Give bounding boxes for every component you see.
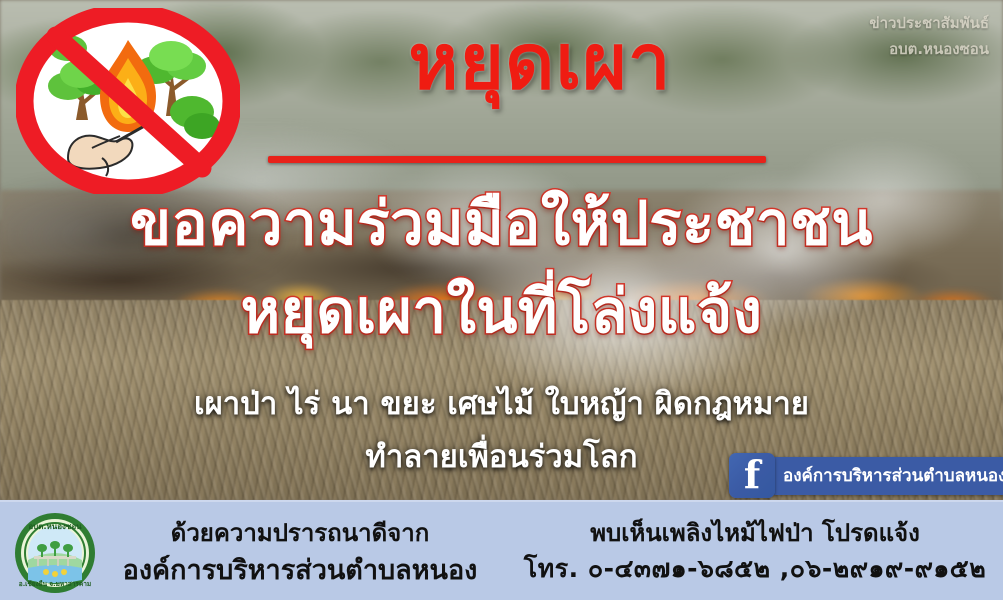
municipality-seal-icon: อบต.หนองซอน อ.เชียงยืน จ.มหาสารคาม (14, 512, 96, 594)
facebook-badge[interactable]: องค์การบริหารส่วนตำบลหนองซอน (729, 453, 1003, 498)
bottom-right-text-block: พบเห็นเพลิงไหม้ไฟป่า โปรดแจ้ง โทร. ๐-๔๓๗… (520, 516, 990, 587)
bottom-info-bar: อบต.หนองซอน อ.เชียงยืน จ.มหาสารคาม ด้วยค… (0, 500, 1003, 600)
emergency-phone-number: โทร. ๐-๔๓๗๑-๖๘๕๒ ,๐๖-๒๙๑๙-๙๑๕๒ (520, 551, 990, 587)
facebook-icon[interactable] (729, 453, 775, 498)
poster-headline: หยุดเผา (330, 14, 750, 109)
announcement-label: ข่าวประชาสัมพันธ์ อบต.หนองซอน (869, 10, 989, 63)
sub-line-1: เผาป่า ไร่ นา ขยะ เศษไม้ ใบหญ้า ผิดกฎหมา… (0, 385, 1003, 424)
bottom-right-line1: พบเห็นเพลิงไหม้ไฟป่า โปรดแจ้ง (520, 516, 990, 551)
message-line-1: ขอความร่วมมือให้ประชาชน (0, 188, 1003, 261)
seal-bottom-text: อ.เชียงยืน จ.มหาสารคาม (19, 580, 91, 588)
facebook-page-name[interactable]: องค์การบริหารส่วนตำบลหนองซอน (771, 457, 1003, 495)
bottom-left-text-block: ด้วยความปรารถนาดีจาก องค์การบริหารส่วนตำ… (100, 516, 500, 600)
announcement-label-line2: อบต.หนองซอน (869, 36, 989, 62)
message-line-2: หยุดเผาในที่โล่งแจ้ง (0, 276, 1003, 349)
bottom-left-line2: องค์การบริหารส่วนตำบลหนองซอน (100, 551, 500, 600)
seal-top-text: อบต.หนองซอน (28, 522, 82, 531)
red-divider-rule (268, 156, 766, 163)
bottom-left-line1: ด้วยความปรารถนาดีจาก (100, 516, 500, 551)
no-burning-prohibition-icon (16, 8, 240, 194)
announcement-label-line1: ข่าวประชาสัมพันธ์ (869, 10, 989, 36)
fire-prevention-poster: ข่าวประชาสัมพันธ์ อบต.หนองซอน (0, 0, 1003, 600)
